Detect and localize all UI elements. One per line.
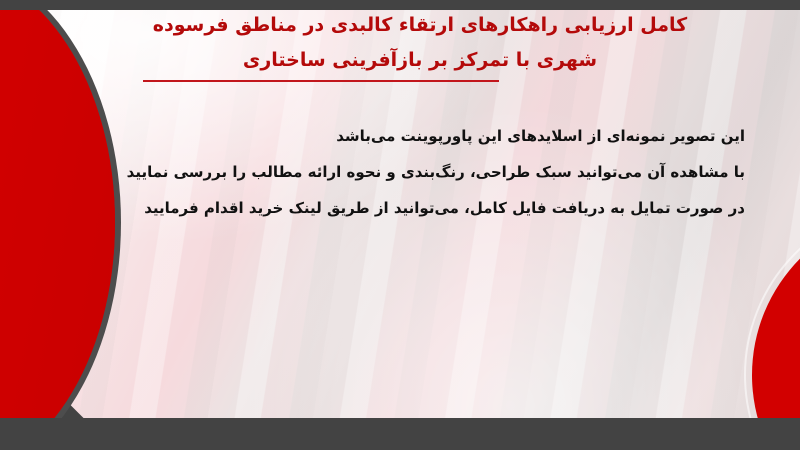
slide-title-line-1: کامل ارزیابی راهکارهای ارتقاء کالبدی در …	[60, 8, 780, 43]
slide-title: کامل ارزیابی راهکارهای ارتقاء کالبدی در …	[60, 8, 780, 78]
slide-frame-bottom-band	[0, 418, 800, 450]
slide-body-line-3: در صورت تمایل به دریافت فایل کامل، می‌تو…	[65, 190, 745, 226]
slide-frame-top-band	[0, 0, 800, 10]
slide-title-line-2: شهری با تمرکز بر بازآفرینی ساختاری	[60, 43, 780, 78]
presentation-slide: کامل ارزیابی راهکارهای ارتقاء کالبدی در …	[0, 0, 800, 450]
slide-body-line-2: با مشاهده آن می‌توانید سبک طراحی، رنگ‌بن…	[65, 154, 745, 190]
slide-body-text: این تصویر نمونه‌ای از اسلایدهای این پاور…	[65, 118, 745, 226]
slide-body-line-1: این تصویر نمونه‌ای از اسلایدهای این پاور…	[65, 118, 745, 154]
title-underline-rule	[143, 80, 499, 82]
